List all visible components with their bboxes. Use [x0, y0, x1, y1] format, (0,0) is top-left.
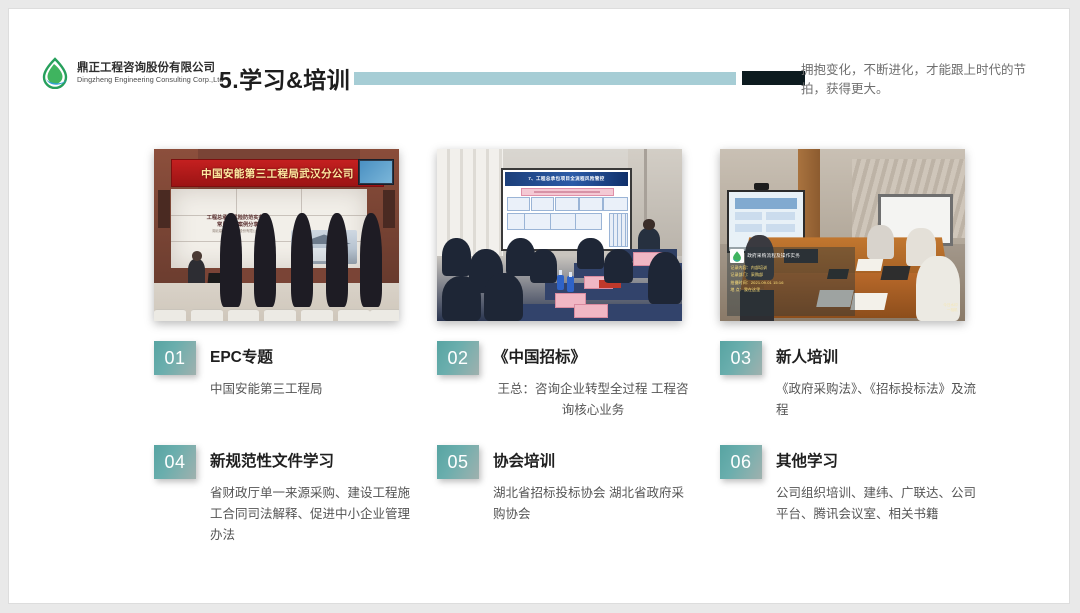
- slide-canvas: 鼎正工程咨询股份有限公司 Dingzheng Engineering Consu…: [0, 0, 1080, 613]
- item-number-badge: 03: [720, 341, 762, 375]
- slide-page: 鼎正工程咨询股份有限公司 Dingzheng Engineering Consu…: [8, 8, 1070, 604]
- item-number-badge: 04: [154, 445, 196, 479]
- item-number-badge: 01: [154, 341, 196, 375]
- item-description: 省财政厅单一来源采购、建设工程施工合同司法解释、促进中小企业管理办法: [210, 483, 410, 546]
- item-number-badge: 05: [437, 445, 479, 479]
- training-item-05: 05 协会培训 湖北省招标投标协会 湖北省政府采购协会: [437, 445, 707, 525]
- item-description: 王总：咨询企业转型全过程 工程咨询核心业务: [493, 379, 693, 421]
- item-number-badge: 06: [720, 445, 762, 479]
- item-number-badge: 02: [437, 341, 479, 375]
- item-description: 公司组织培训、建纬、广联达、公司平台、腾讯会议室、相关书籍: [776, 483, 976, 525]
- item-title: EPC专题: [210, 341, 273, 375]
- item-title: 其他学习: [776, 445, 838, 479]
- item-title: 协会培训: [493, 445, 555, 479]
- training-item-03: 03 新人培训 《政府采购法》、《招标投标法》及流程: [720, 341, 990, 421]
- item-description: 《政府采购法》、《招标投标法》及流程: [776, 379, 976, 421]
- item-description: 中国安能第三工程局: [210, 379, 410, 400]
- training-item-01: 01 EPC专题 中国安能第三工程局: [154, 341, 424, 400]
- item-title: 新人培训: [776, 341, 838, 375]
- training-items-grid: 01 EPC专题 中国安能第三工程局 02 《中国招标》 王总：咨询企业转型全过…: [9, 9, 1069, 603]
- item-title: 《中国招标》: [493, 341, 586, 375]
- training-item-06: 06 其他学习 公司组织培训、建纬、广联达、公司平台、腾讯会议室、相关书籍: [720, 445, 990, 525]
- training-item-02: 02 《中国招标》 王总：咨询企业转型全过程 工程咨询核心业务: [437, 341, 707, 421]
- training-item-04: 04 新规范性文件学习 省财政厅单一来源采购、建设工程施工合同司法解释、促进中小…: [154, 445, 424, 546]
- item-description: 湖北省招标投标协会 湖北省政府采购协会: [493, 483, 693, 525]
- item-title: 新规范性文件学习: [210, 445, 334, 479]
